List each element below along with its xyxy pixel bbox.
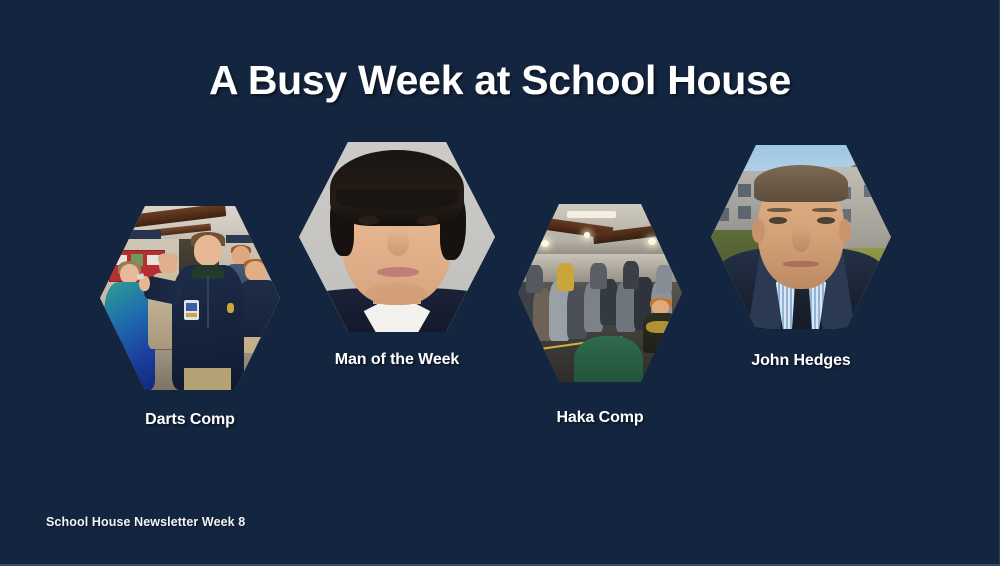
photo-caption-john-hedges: John Hedges (751, 352, 850, 370)
hexagon-photo-haka (518, 204, 682, 382)
photo-tile-man-of-the-week[interactable]: Man of the Week (299, 142, 495, 332)
hexagon-photo-darts (100, 206, 280, 390)
slide-footer: School House Newsletter Week 8 (46, 515, 245, 529)
hexagon-photo-john-hedges (711, 145, 891, 329)
photo-caption-man-of-the-week: Man of the Week (335, 351, 459, 369)
photo-tile-john-hedges[interactable]: John Hedges (711, 145, 891, 329)
hexagon-photo-man-of-the-week (299, 142, 495, 332)
man-of-the-week-photo (299, 142, 495, 332)
photo-caption-haka: Haka Comp (556, 409, 643, 427)
photo-tile-darts[interactable]: Darts Comp (100, 206, 280, 390)
page-title: A Busy Week at School House (0, 57, 1000, 104)
photo-tile-haka[interactable]: Haka Comp (518, 204, 682, 382)
haka-photo (518, 204, 682, 382)
darts-photo (100, 206, 280, 390)
photo-caption-darts: Darts Comp (145, 411, 235, 429)
presentation-slide: A Busy Week at School House (0, 0, 1000, 566)
john-hedges-photo (711, 145, 891, 329)
